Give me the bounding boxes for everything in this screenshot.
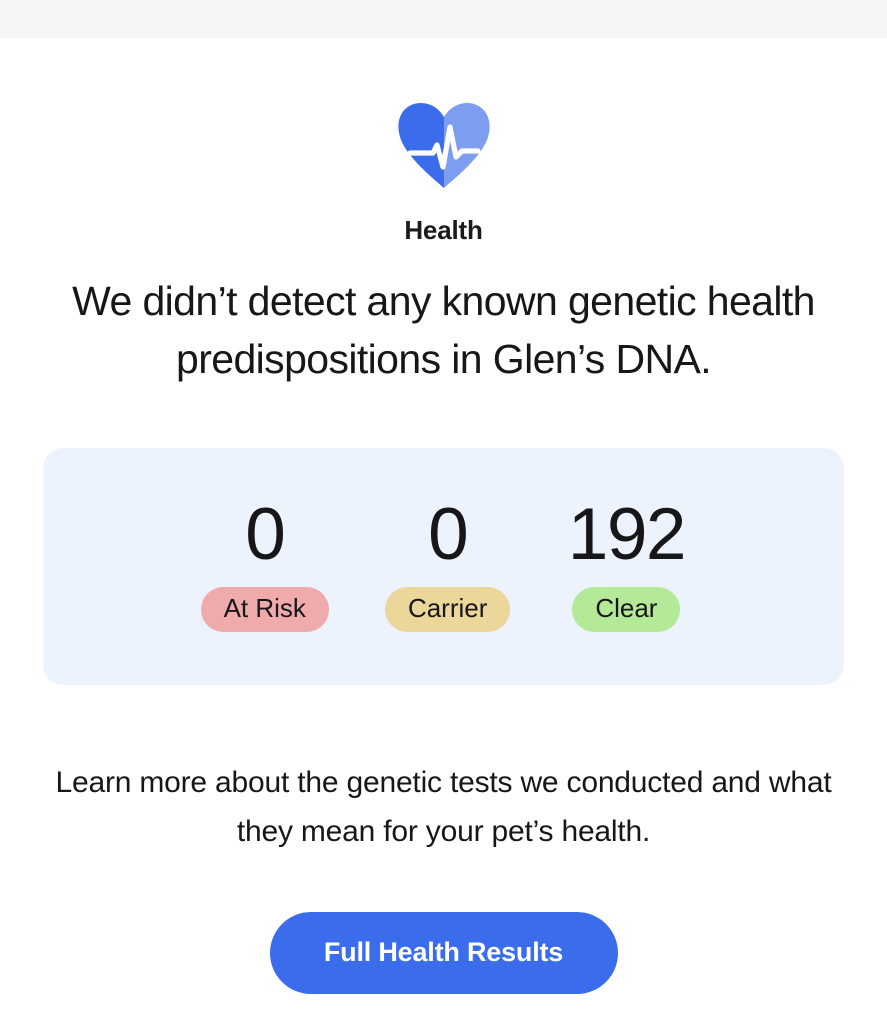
health-icon-container <box>0 101 887 189</box>
stat-carrier-value: 0 <box>428 498 467 571</box>
heart-pulse-icon <box>396 101 492 189</box>
health-summary-page: Health We didn’t detect any known geneti… <box>0 39 887 1024</box>
stat-clear-badge: Clear <box>572 587 680 632</box>
stat-carrier: 0 Carrier <box>385 498 510 632</box>
page-headline: We didn’t detect any known genetic healt… <box>49 272 839 388</box>
stat-at-risk: 0 At Risk <box>201 498 329 632</box>
stat-clear: 192 Clear <box>566 498 686 632</box>
stat-at-risk-badge: At Risk <box>201 587 329 632</box>
stats-row: 0 At Risk 0 Carrier 192 Clear <box>201 498 687 636</box>
section-title: Health <box>0 215 887 246</box>
status-bar <box>0 0 887 38</box>
stat-carrier-badge: Carrier <box>385 587 510 632</box>
stat-clear-value: 192 <box>568 498 685 571</box>
stat-at-risk-value: 0 <box>245 498 284 571</box>
full-health-results-button[interactable]: Full Health Results <box>270 912 618 994</box>
cta-container: Full Health Results <box>0 912 887 994</box>
health-stats-card: 0 At Risk 0 Carrier 192 Clear <box>43 448 844 685</box>
body-copy: Learn more about the genetic tests we co… <box>44 759 844 856</box>
